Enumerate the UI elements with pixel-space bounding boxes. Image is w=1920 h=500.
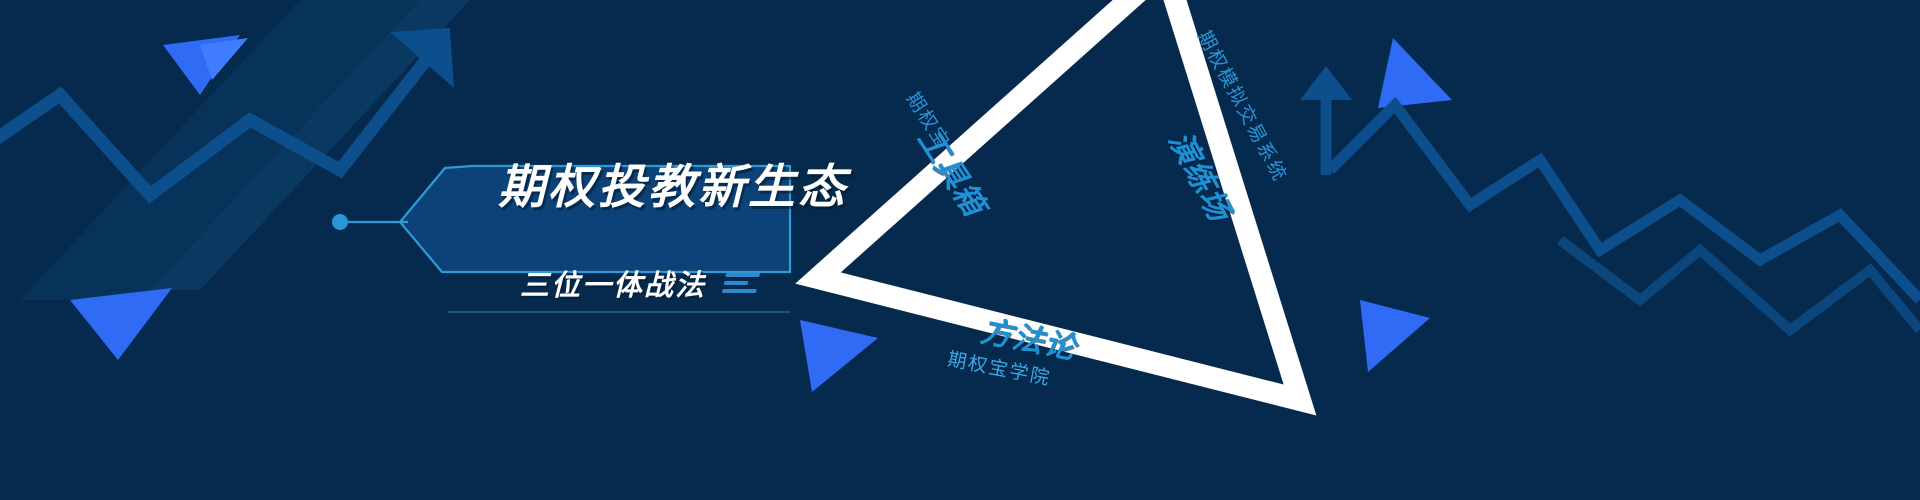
page-title: 期权投教新生态 — [498, 150, 798, 214]
bars-icon — [722, 273, 760, 293]
title-connector-dot — [332, 214, 348, 230]
zigzag-arrow-light — [1330, 105, 1920, 300]
subtitle-row: 三位一体战法 — [520, 262, 758, 304]
promo-banner: 期权投教新生态 三位一体战法 期权宝 工具箱 期权模拟交易系统 演练场 方法论 … — [0, 0, 1920, 500]
zigzag-far-right-line — [1560, 240, 1920, 330]
triangle-diagram: 期权宝 工具箱 期权模拟交易系统 演练场 方法论 期权宝学院 — [760, 0, 1400, 500]
triangle-outline — [760, 0, 1400, 500]
page-subtitle: 三位一体战法 — [520, 262, 706, 304]
